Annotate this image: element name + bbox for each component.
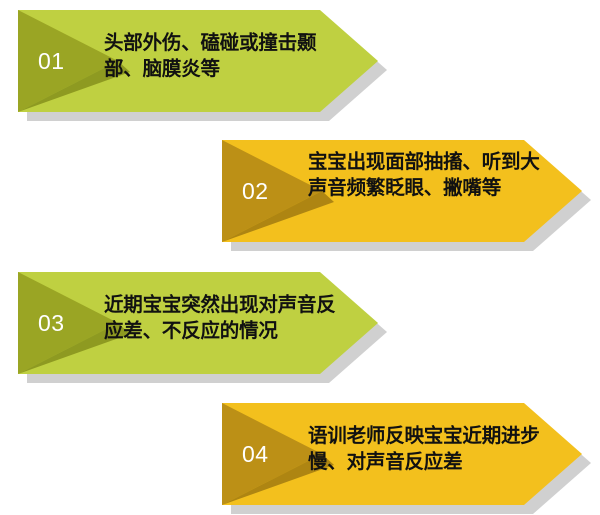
arrow-step-03[interactable]: 03 近期宝宝突然出现对声音反应差、不反应的情况 (18, 272, 383, 374)
step-text-01: 头部外伤、磕碰或撞击颞部、脑膜炎等 (104, 30, 349, 81)
step-number-04: 04 (242, 443, 269, 466)
arrow-step-04[interactable]: 04 语训老师反映宝宝近期进步慢、对声音反应差 (222, 403, 587, 505)
step-text-04: 语训老师反映宝宝近期进步慢、对声音反应差 (308, 423, 553, 474)
arrow-step-01[interactable]: 01 头部外伤、磕碰或撞击颞部、脑膜炎等 (18, 10, 383, 112)
step-number-01: 01 (38, 50, 65, 73)
arrow-steps-diagram: 01 头部外伤、磕碰或撞击颞部、脑膜炎等 02 宝宝出现面部抽搐、听到大声音频繁… (0, 0, 600, 511)
step-text-03: 近期宝宝突然出现对声音反应差、不反应的情况 (104, 292, 349, 343)
step-number-02: 02 (242, 180, 269, 203)
step-text-02: 宝宝出现面部抽搐、听到大声音频繁眨眼、撇嘴等 (308, 149, 553, 200)
step-number-03: 03 (38, 312, 65, 335)
arrow-step-02[interactable]: 02 宝宝出现面部抽搐、听到大声音频繁眨眼、撇嘴等 (222, 140, 587, 242)
